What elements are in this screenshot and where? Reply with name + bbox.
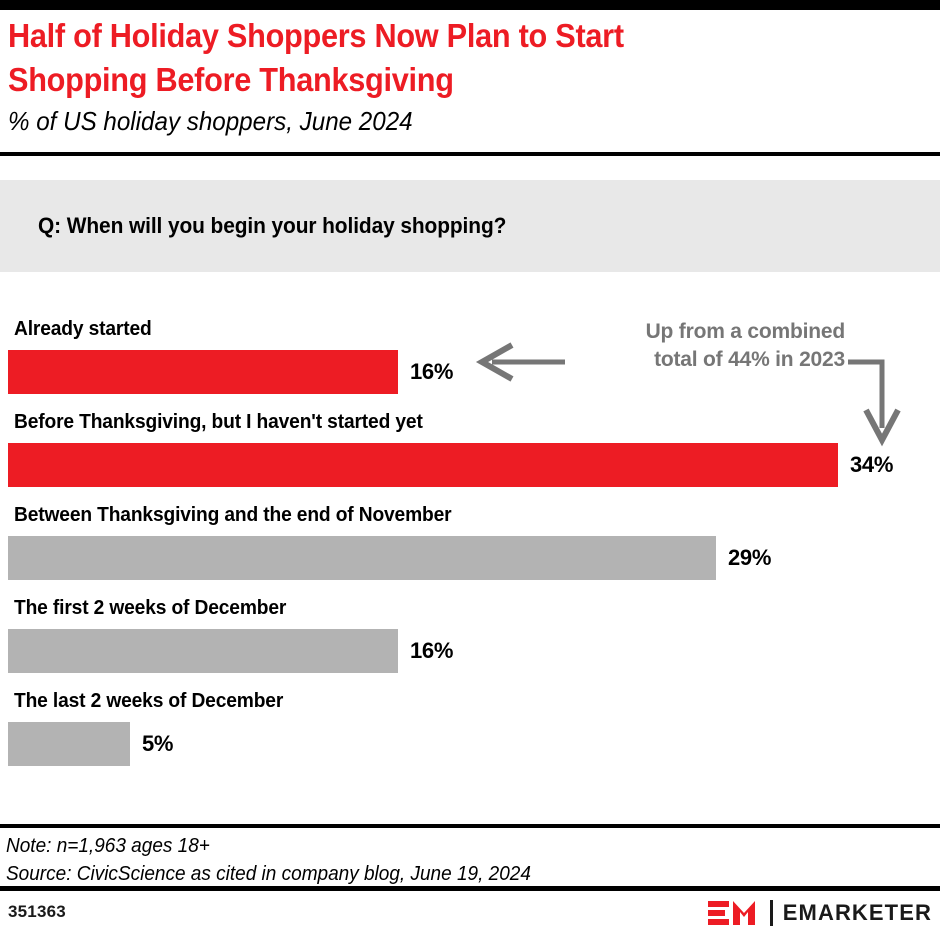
- bar-fill: [8, 536, 716, 580]
- bar-fill: [8, 722, 130, 766]
- bar-fill: [8, 443, 838, 487]
- bar-category-label: The first 2 weeks of December: [14, 597, 286, 620]
- bar-row: The first 2 weeks of December16%: [0, 597, 940, 673]
- bar-category-label: Already started: [14, 318, 152, 341]
- bar-track: [8, 536, 716, 580]
- source-text: Source: CivicScience as cited in company…: [6, 860, 880, 888]
- em-logomark-icon: [708, 899, 760, 927]
- top-black-rule: [0, 0, 940, 10]
- question-band: Q: When will you begin your holiday shop…: [0, 180, 940, 272]
- bar-track: [8, 629, 398, 673]
- footer-divider: [0, 886, 940, 891]
- bar-value-label: 16%: [410, 359, 453, 385]
- bar-row: Between Thanksgiving and the end of Nove…: [0, 504, 940, 580]
- bar-category-label: Before Thanksgiving, but I haven't start…: [14, 411, 423, 434]
- bar-value-label: 34%: [850, 452, 893, 478]
- bar-track: [8, 722, 130, 766]
- question-text: Q: When will you begin your holiday shop…: [38, 213, 506, 239]
- bar-chart: Already started16%Before Thanksgiving, b…: [0, 300, 940, 800]
- page-subtitle: % of US holiday shoppers, June 2024: [8, 105, 867, 138]
- chart-id: 351363: [8, 902, 66, 922]
- note-text: Note: n=1,963 ages 18+: [6, 832, 880, 860]
- bar-value-label: 16%: [410, 638, 453, 664]
- note-divider: [0, 824, 940, 828]
- bar-category-label: The last 2 weeks of December: [14, 690, 283, 713]
- bar-value-label: 5%: [142, 731, 173, 757]
- bar-track: [8, 443, 838, 487]
- bar-fill: [8, 350, 398, 394]
- page-title: Half of Holiday Shoppers Now Plan to Sta…: [8, 14, 867, 101]
- bar-row: Already started16%: [0, 318, 940, 394]
- bar-row: The last 2 weeks of December5%: [0, 690, 940, 766]
- bar-row: Before Thanksgiving, but I haven't start…: [0, 411, 940, 487]
- chart-header: Half of Holiday Shoppers Now Plan to Sta…: [8, 14, 932, 138]
- bar-value-label: 29%: [728, 545, 771, 571]
- emarketer-logo: EMARKETER: [708, 898, 932, 928]
- footer-notes: Note: n=1,963 ages 18+ Source: CivicScie…: [6, 832, 926, 889]
- logo-divider: [770, 900, 773, 926]
- bar-track: [8, 350, 398, 394]
- bar-fill: [8, 629, 398, 673]
- bar-category-label: Between Thanksgiving and the end of Nove…: [14, 504, 451, 527]
- header-divider: [0, 152, 940, 156]
- brand-wordmark: EMARKETER: [783, 900, 932, 926]
